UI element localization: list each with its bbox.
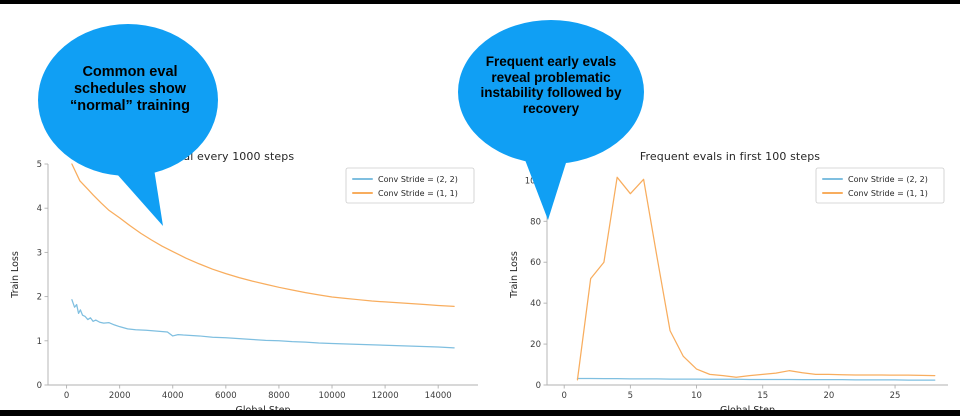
y-tick-label: 0	[536, 381, 541, 391]
y-tick-label: 4	[37, 204, 42, 214]
callout-line: reveal problematic	[491, 70, 610, 85]
legend-label-2: Conv Stride = (1, 1)	[378, 189, 458, 198]
figure-canvas: Eval every 1000 steps 020004000600080001…	[0, 4, 960, 410]
callout-line: Common eval	[82, 64, 177, 80]
x-axis-label: Global Step	[236, 405, 291, 410]
y-tick-label: 3	[37, 248, 42, 258]
legend-label-2: Conv Stride = (1, 1)	[848, 189, 928, 198]
x-tick-label: 2000	[109, 391, 131, 401]
series-line-1	[577, 378, 934, 380]
y-tick-label: 100	[525, 176, 541, 186]
callout-line: recovery	[523, 101, 579, 116]
y-tick-label: 20	[530, 340, 541, 350]
x-tick-label: 0	[64, 391, 69, 401]
x-tick-label: 8000	[268, 391, 290, 401]
y-tick-label: 40	[530, 299, 541, 309]
y-tick-label: 1	[37, 337, 42, 347]
x-tick-label: 6000	[215, 391, 237, 401]
callout-line: Frequent early evals	[486, 54, 617, 69]
callout-line: schedules show	[74, 81, 186, 97]
series-line-2	[577, 177, 934, 380]
legend-label-1: Conv Stride = (2, 2)	[848, 175, 928, 184]
x-tick-label: 14000	[425, 391, 452, 401]
x-tick-label: 12000	[372, 391, 399, 401]
legend-label-1: Conv Stride = (2, 2)	[378, 175, 458, 184]
y-axis-label: Train Loss	[509, 251, 520, 299]
y-tick-label: 5	[37, 160, 42, 170]
x-tick-label: 20	[823, 391, 834, 401]
callout-2-text: Frequent early evalsreveal problematicin…	[457, 54, 645, 117]
callout-1-text: Common evalschedules show“normal” traini…	[40, 64, 220, 114]
x-tick-label: 25	[890, 391, 901, 401]
x-tick-label: 4000	[162, 391, 184, 401]
y-tick-label: 60	[530, 258, 541, 268]
callout-line: instability followed by	[480, 85, 621, 100]
x-tick-label: 15	[757, 391, 768, 401]
x-tick-label: 0	[561, 391, 566, 401]
callout-line: “normal” training	[70, 98, 190, 114]
y-axis-label: Train Loss	[10, 251, 21, 299]
x-tick-label: 5	[628, 391, 633, 401]
y-tick-label: 2	[37, 293, 42, 303]
figure-frame: Eval every 1000 steps 020004000600080001…	[0, 0, 960, 416]
x-axis-label: Global Step	[720, 405, 775, 410]
x-tick-label: 10000	[318, 391, 345, 401]
x-tick-label: 10	[691, 391, 702, 401]
y-tick-label: 80	[530, 217, 541, 227]
series-line-1	[72, 300, 454, 348]
y-tick-label: 0	[37, 381, 42, 391]
